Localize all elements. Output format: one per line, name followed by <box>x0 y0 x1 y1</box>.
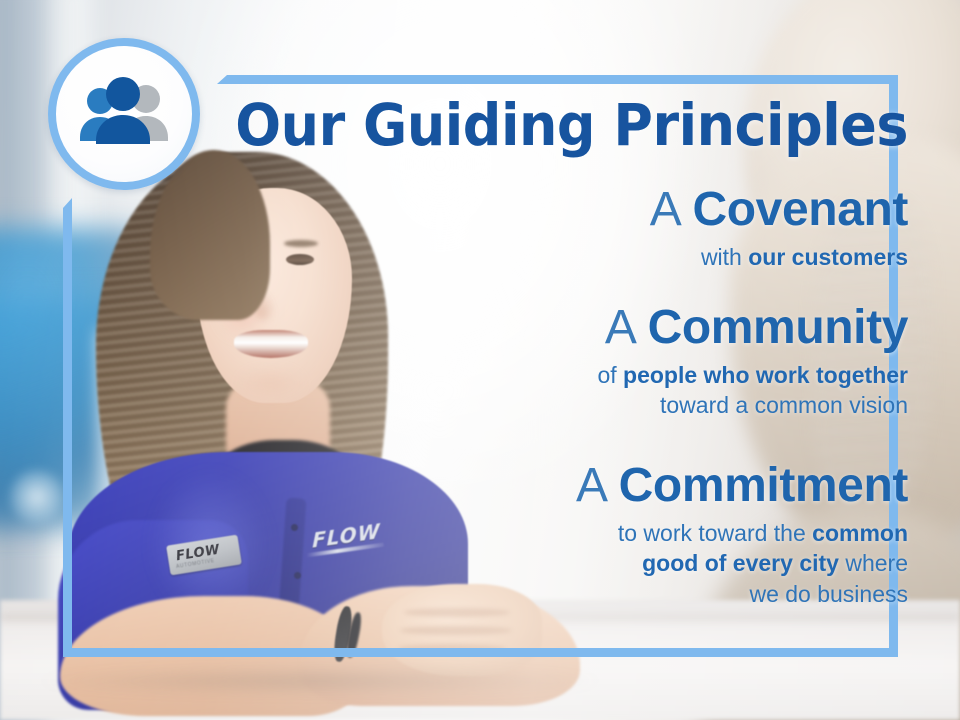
frame-border-bottom <box>63 648 898 657</box>
principle-community-title: A Community <box>597 304 908 353</box>
principle-community-lead: A <box>605 301 648 354</box>
frame-border-top <box>217 75 898 84</box>
principle-commitment-keyword: Commitment <box>619 459 908 512</box>
principle-covenant-sub-1: our customers <box>748 244 908 270</box>
blurred-vehicle-emblem <box>10 470 64 524</box>
principle-commitment-sub-line3: we do business <box>576 579 908 609</box>
employee-finger-1 <box>404 608 510 617</box>
principle-commitment-lead: A <box>576 459 619 512</box>
employee-polo-button-bottom <box>294 572 301 579</box>
principle-community-sub-line1: of people who work together <box>597 360 908 390</box>
arm-shadow-on-counter <box>40 668 600 694</box>
principle-covenant-title: A Covenant <box>650 186 908 235</box>
principle-commitment-sub-line2: good of every city where <box>576 548 908 578</box>
principle-covenant-lead: A <box>650 183 693 236</box>
principle-commitment-subtitle: to work toward the common good of every … <box>576 518 908 609</box>
principle-community-sub-0: of <box>597 362 623 388</box>
principle-community-keyword: Community <box>648 301 908 354</box>
principle-covenant-subtitle: with our customers <box>650 242 908 272</box>
principle-commitment-sub-2b: we do business <box>749 581 908 607</box>
principle-commitment-sub-line1: to work toward the common <box>576 518 908 548</box>
principle-community-sub-1: people who work together <box>623 362 908 388</box>
page-title: Our Guiding Principles <box>64 96 908 154</box>
employee-eyebrow-right <box>284 240 318 247</box>
employee-eye-right <box>286 254 314 265</box>
principle-commitment: A Commitment to work toward the common g… <box>576 462 908 609</box>
principle-covenant-keyword: Covenant <box>693 183 909 236</box>
principle-covenant-sub-0: with <box>701 244 748 270</box>
employee-chin <box>236 366 306 400</box>
employee-polo-button-top <box>291 524 298 531</box>
employee-smile <box>234 330 308 358</box>
principle-community: A Community of people who work together … <box>597 304 908 421</box>
guiding-principles-graphic: FLOW AUTOMOTIVE FLOW <box>0 0 960 720</box>
principle-community-subtitle: of people who work together toward a com… <box>597 360 908 421</box>
principle-commitment-title: A Commitment <box>576 462 908 511</box>
principle-commitment-sub-0: to work toward the <box>618 520 812 546</box>
employee-finger-2 <box>400 626 512 635</box>
frame-border-left <box>63 198 72 657</box>
principle-commitment-sub-2a: where <box>845 550 908 576</box>
principle-covenant: A Covenant with our customers <box>650 186 908 272</box>
principle-commitment-sub-1b: good of every city <box>642 550 839 576</box>
principle-community-sub-line2: toward a common vision <box>597 390 908 420</box>
principle-commitment-sub-1a: common <box>812 520 908 546</box>
